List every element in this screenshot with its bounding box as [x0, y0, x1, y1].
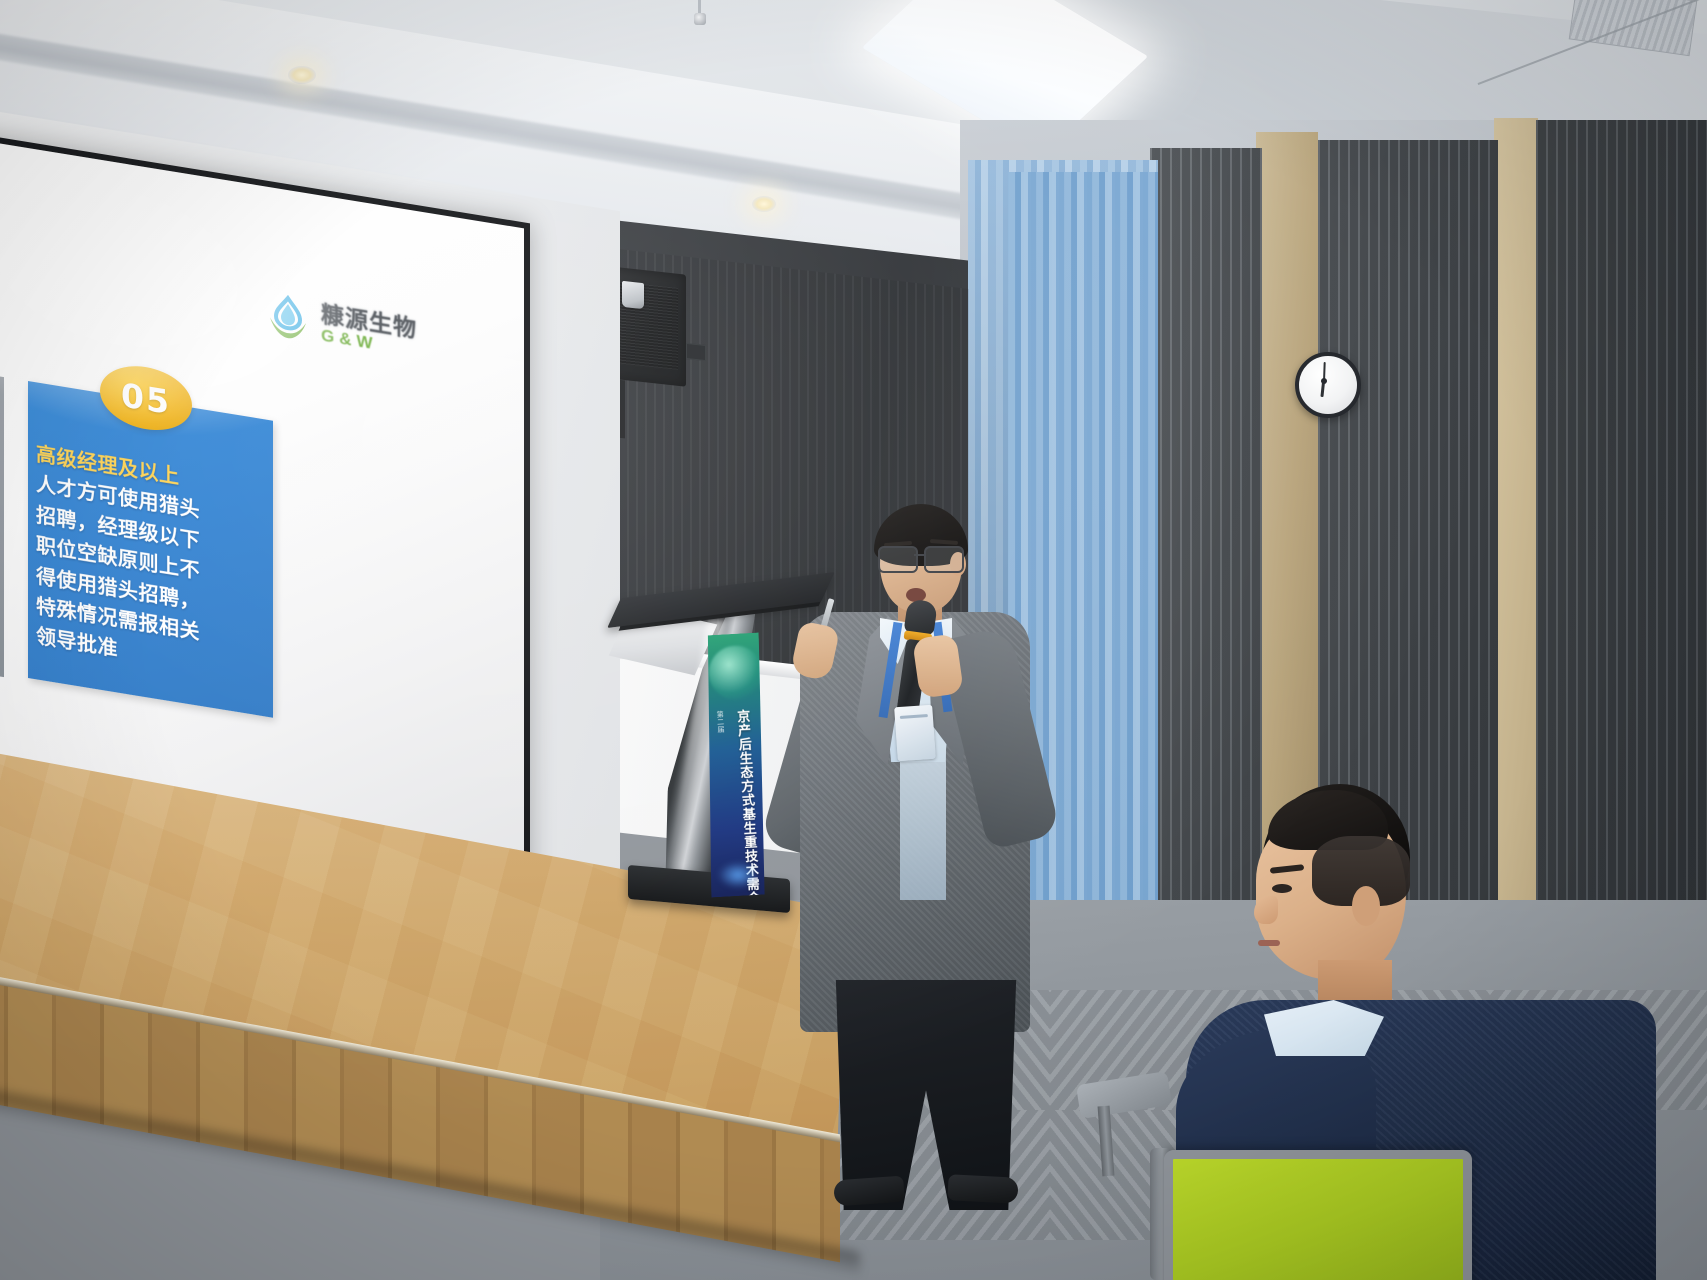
slide-logo-text: 糠源生物 G&W: [321, 303, 417, 359]
trophy-globe-graphic: [707, 644, 764, 701]
slide-adjacent-panel: [0, 367, 4, 677]
wall-wood-strip: [1494, 118, 1538, 1018]
leaf-water-drop-logo-icon: [262, 288, 314, 348]
presenter-shoe: [833, 1176, 905, 1207]
recessed-downlight-icon: [288, 66, 316, 84]
wall-panel-ribs: [1150, 148, 1262, 1008]
attendee-mouth: [1258, 940, 1280, 946]
conference-room-photo: 糠源生物 G&W 工 件 05 高级经理及以上 人才方可使用猎头 招聘，经理级以…: [0, 0, 1707, 1280]
attendee-nose: [1254, 896, 1278, 924]
window-curtain: [1008, 172, 1158, 1012]
office-chair-backrest[interactable]: [1164, 1150, 1472, 1280]
trophy-base-glow: [718, 862, 758, 888]
presenter-id-badge: [894, 705, 936, 762]
attendee-eye: [1272, 884, 1292, 893]
slide-body-text: 高级经理及以上 人才方可使用猎头 招聘，经理级以下 职位空缺原则上不 得使用猎头…: [36, 439, 264, 687]
slide-number-value: 05: [121, 375, 171, 422]
slide-company-logo: 糠源生物 G&W: [262, 282, 442, 375]
trophy-subtitle-text: 第二届: [713, 710, 726, 733]
emergency-light-icon: [622, 281, 644, 309]
wall-clock-icon: [1295, 352, 1361, 418]
sprinkler-head-icon: [694, 0, 706, 28]
wall-outlet-box: [686, 343, 706, 361]
wall-panel-ribs: [1536, 120, 1707, 1030]
presenter-right-hand: [912, 633, 964, 699]
presenter-shoe: [947, 1174, 1018, 1204]
recessed-downlight-icon: [752, 196, 776, 212]
attendee-ear: [1352, 886, 1380, 926]
eyeglasses-icon: [876, 546, 968, 570]
